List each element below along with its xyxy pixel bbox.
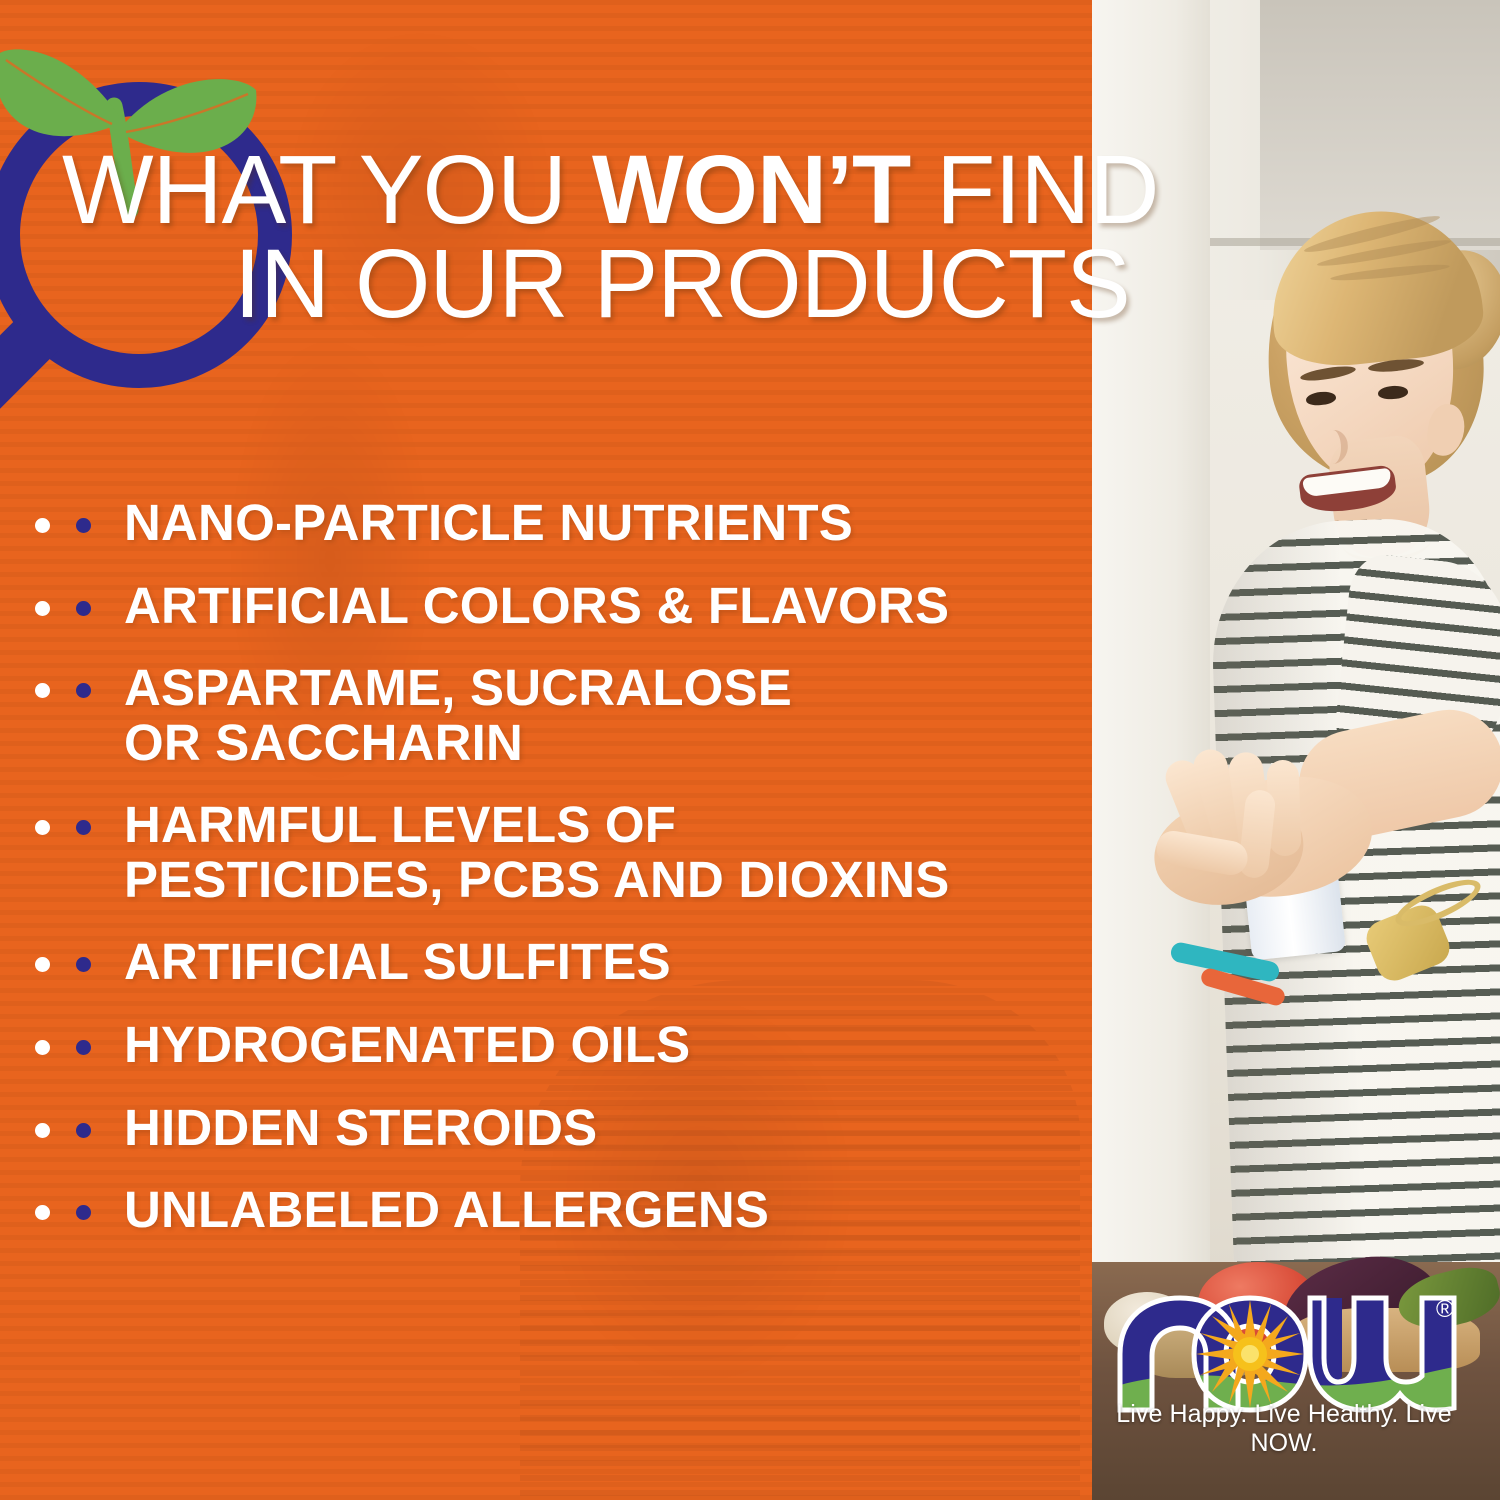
- list-item: UNLABELED ALLERGENS: [72, 1183, 1082, 1238]
- bullet-dot-icon: [76, 1040, 91, 1055]
- poster-canvas: WHAT YOU WON’T FIND IN OUR PRODUCTS NANO…: [0, 0, 1500, 1500]
- logo-tagline: Live Happy. Live Healthy. Live NOW.: [1108, 1400, 1460, 1458]
- sunburst-icon: [1196, 1300, 1304, 1408]
- list-item-line: HIDDEN STEROIDS: [124, 1101, 1082, 1156]
- list-item-line: ARTIFICIAL SULFITES: [124, 935, 1082, 990]
- bullet-dot-icon: [76, 1123, 91, 1138]
- list-item-line: HYDROGENATED OILS: [124, 1018, 1082, 1073]
- list-item-line: ARTIFICIAL COLORS & FLAVORS: [124, 579, 1082, 634]
- headline-part-1: WHAT YOU: [62, 135, 592, 244]
- list-item: HARMFUL LEVELS OF PESTICIDES, PCBS AND D…: [72, 798, 1082, 907]
- list-item-line: NANO-PARTICLE NUTRIENTS: [124, 496, 1082, 551]
- page-title: WHAT YOU WON’T FIND IN OUR PRODUCTS: [62, 143, 1462, 331]
- teeth: [1302, 468, 1392, 498]
- list-item-line: HARMFUL LEVELS OF: [124, 798, 1082, 853]
- list-item-line: PESTICIDES, PCBS AND DIOXINS: [124, 853, 1082, 908]
- list-item: ASPARTAME, SUCRALOSE OR SACCHARIN: [72, 661, 1082, 770]
- headline-line-2: IN OUR PRODUCTS: [62, 237, 1462, 331]
- list-item-line: UNLABELED ALLERGENS: [124, 1183, 1082, 1238]
- bullet-dot-icon: [76, 683, 91, 698]
- list-item: ARTIFICIAL COLORS & FLAVORS: [72, 579, 1082, 634]
- list-item: ARTIFICIAL SULFITES: [72, 935, 1082, 990]
- list-item: NANO-PARTICLE NUTRIENTS: [72, 496, 1082, 551]
- registered-trademark-icon: ®: [1436, 1296, 1454, 1324]
- exclusions-list: NANO-PARTICLE NUTRIENTS ARTIFICIAL COLOR…: [72, 496, 1082, 1266]
- bullet-dot-icon: [76, 1205, 91, 1220]
- list-item: HYDROGENATED OILS: [72, 1018, 1082, 1073]
- bullet-dot-icon: [76, 957, 91, 972]
- bullet-dot-icon: [76, 820, 91, 835]
- list-item-line: ASPARTAME, SUCRALOSE: [124, 661, 1082, 716]
- list-item-line: OR SACCHARIN: [124, 716, 1082, 771]
- bullet-dot-icon: [76, 601, 91, 616]
- list-item: HIDDEN STEROIDS: [72, 1101, 1082, 1156]
- headline-part-2: FIND: [910, 135, 1158, 244]
- bullet-dot-icon: [76, 518, 91, 533]
- headline-emphasis: WON’T: [592, 135, 910, 244]
